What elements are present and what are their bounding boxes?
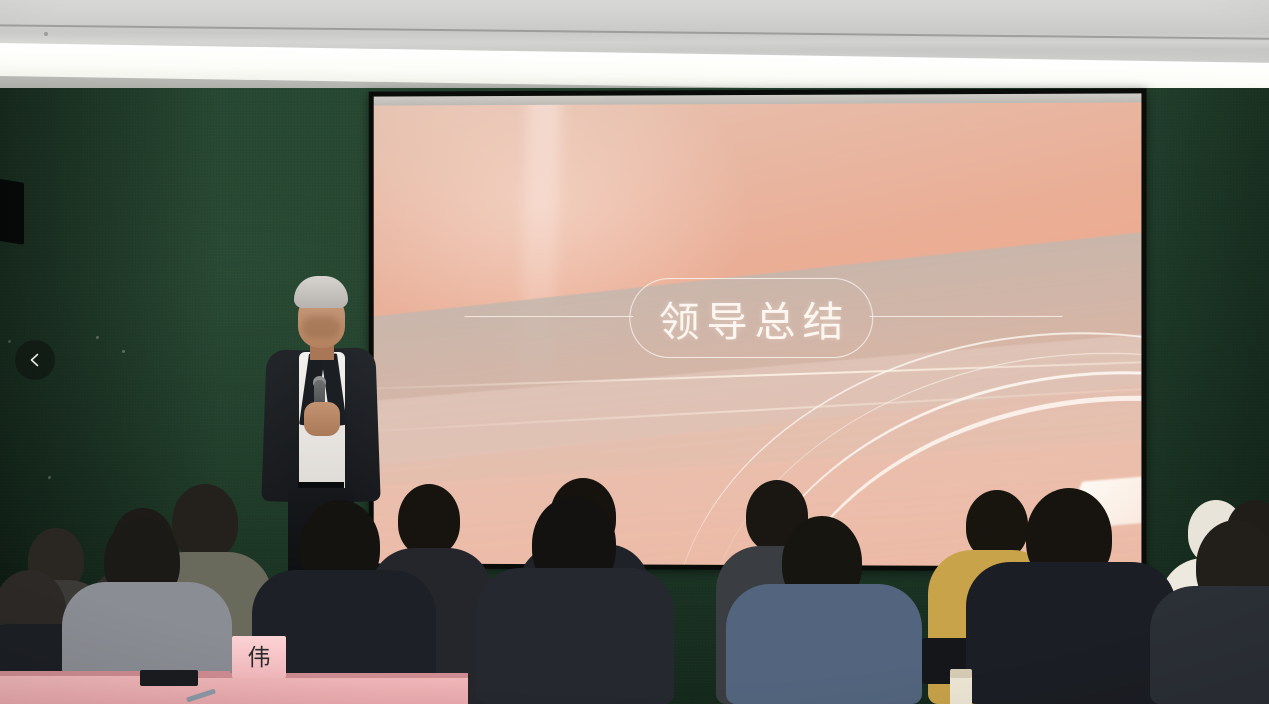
torso bbox=[476, 568, 674, 704]
presenter-hands bbox=[304, 402, 340, 436]
name-placard: 伟 bbox=[232, 636, 286, 678]
ceiling-seam bbox=[0, 24, 1269, 41]
slide-rule-left bbox=[465, 316, 634, 317]
table-edge bbox=[178, 673, 468, 678]
torso bbox=[1150, 586, 1269, 704]
laptop bbox=[140, 670, 198, 686]
torso bbox=[726, 584, 922, 704]
table-cloth bbox=[178, 674, 468, 704]
slide-rule-right bbox=[869, 316, 1062, 317]
chevron-left-icon bbox=[27, 352, 43, 368]
slide-title-pill: 领导总结 bbox=[629, 278, 873, 358]
name-placard-text: 伟 bbox=[248, 646, 271, 669]
prev-image-button[interactable] bbox=[15, 340, 55, 380]
head bbox=[172, 484, 238, 560]
ceiling-fixture-screw bbox=[44, 32, 48, 36]
bottle-cap bbox=[950, 669, 972, 678]
head bbox=[398, 484, 460, 556]
torso bbox=[966, 562, 1176, 704]
photo-viewer-stage: 领导总结 bbox=[0, 0, 1269, 704]
audience: 伟 bbox=[0, 440, 1269, 704]
presenter-hair bbox=[294, 276, 348, 308]
slide-title: 领导总结 bbox=[652, 288, 851, 348]
presenter-face-shadow bbox=[302, 316, 340, 338]
ceiling bbox=[0, 0, 1269, 96]
